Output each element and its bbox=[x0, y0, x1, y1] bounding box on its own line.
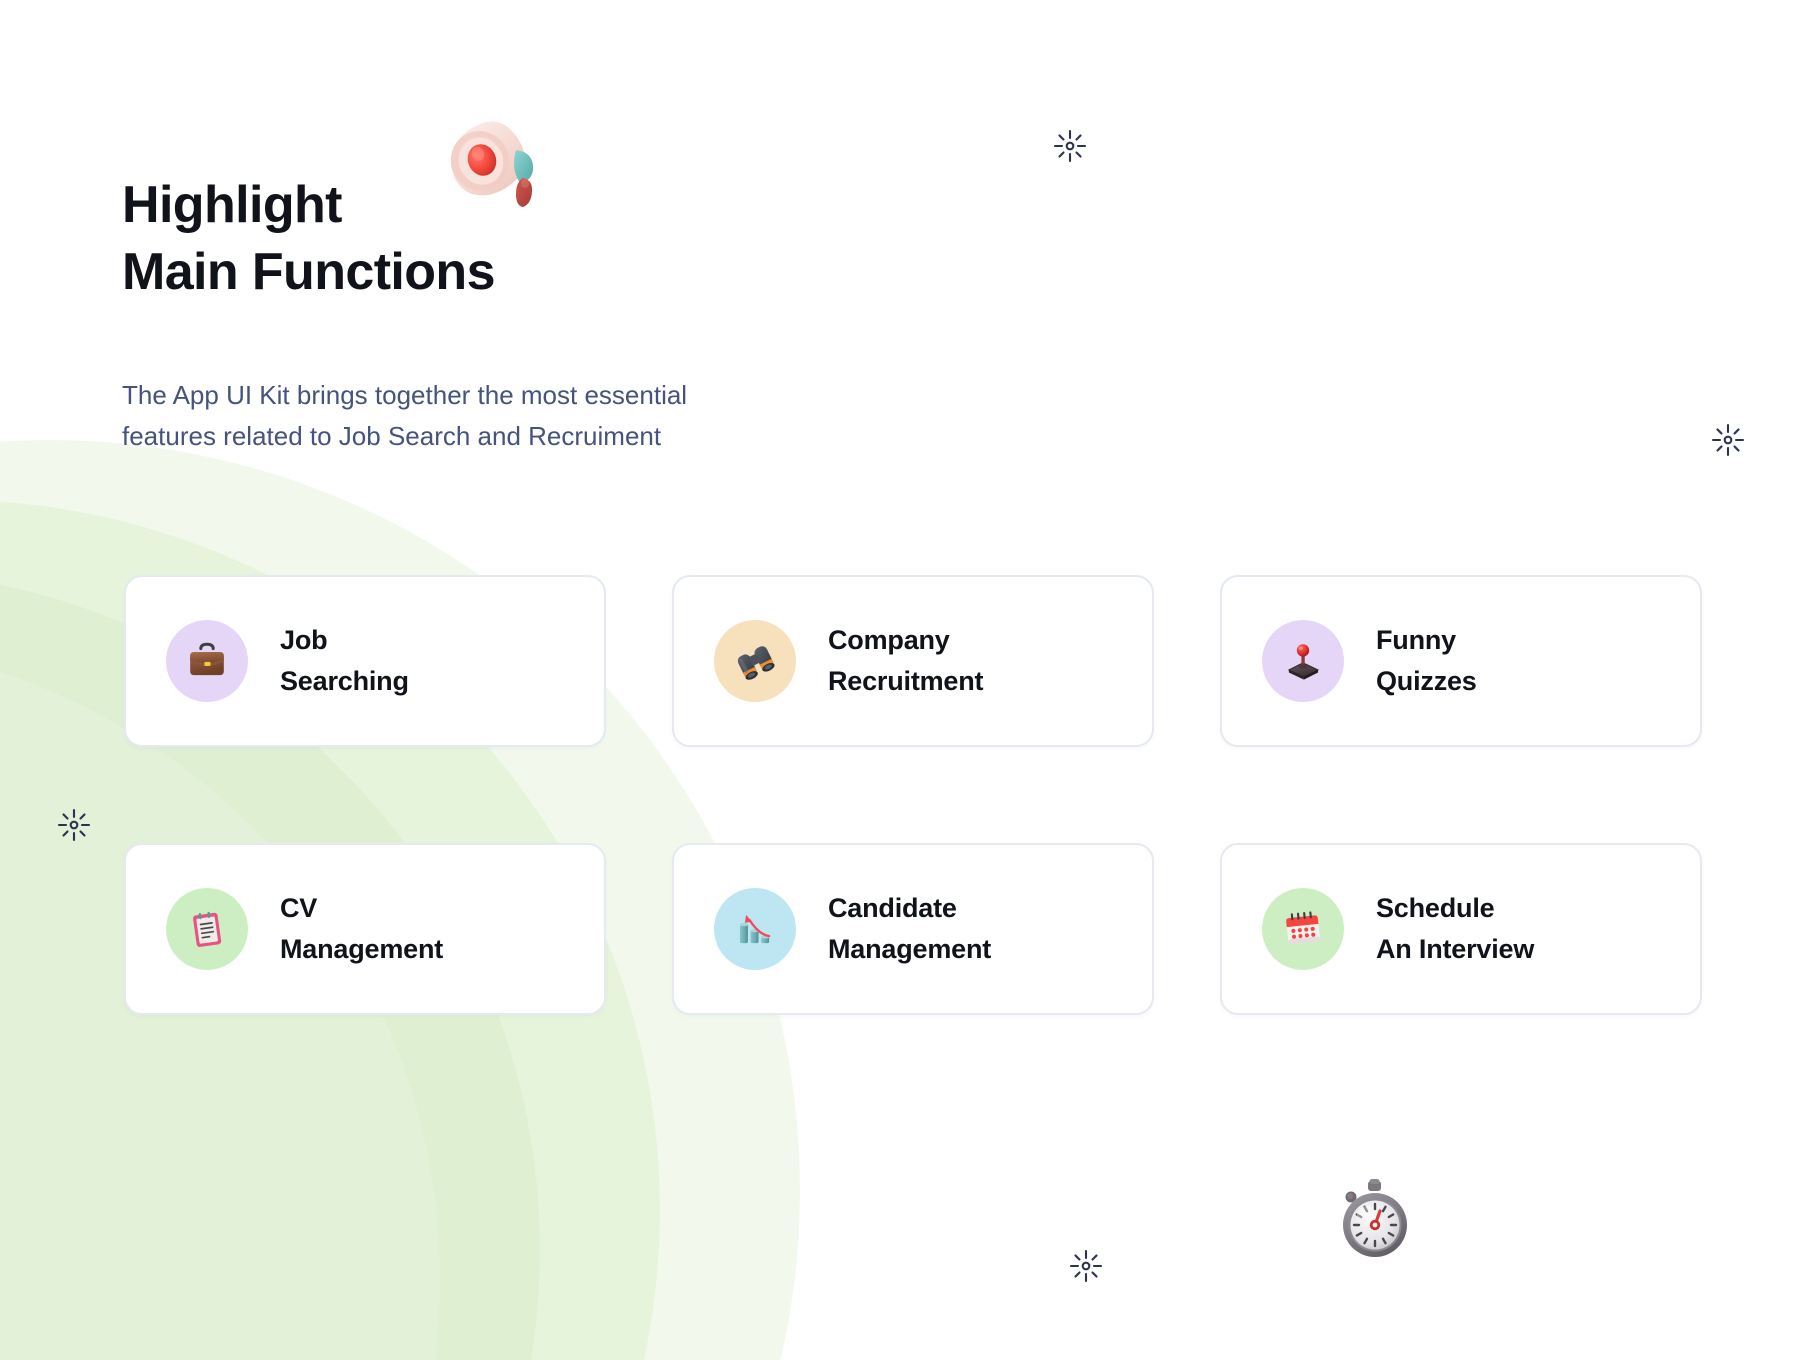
card-label: Company Recruitment bbox=[828, 620, 983, 702]
sparkle-top-center bbox=[1052, 128, 1088, 169]
heading-block: Highlight Main Functions bbox=[122, 172, 1022, 305]
page-subtitle: The App UI Kit brings together the most … bbox=[122, 375, 942, 457]
card-label: Candidate Management bbox=[828, 888, 991, 970]
clipboard-icon bbox=[166, 888, 248, 970]
megaphone-3d-icon bbox=[428, 108, 548, 228]
sparkle-right bbox=[1710, 422, 1746, 463]
card-company-recruitment[interactable]: Company Recruitment bbox=[672, 575, 1154, 747]
card-cv-management[interactable]: CV Management bbox=[124, 843, 606, 1015]
sparkle-left bbox=[56, 807, 92, 848]
card-label: Job Searching bbox=[280, 620, 409, 702]
page-root: Highlight Main Functions bbox=[0, 0, 1800, 1360]
card-label: Funny Quizzes bbox=[1376, 620, 1477, 702]
function-card-grid: Job Searching bbox=[124, 575, 1704, 1015]
binoculars-icon bbox=[714, 620, 796, 702]
card-funny-quizzes[interactable]: Funny Quizzes bbox=[1220, 575, 1702, 747]
card-label: CV Management bbox=[280, 888, 443, 970]
calendar-icon bbox=[1262, 888, 1344, 970]
card-candidate-management[interactable]: Candidate Management bbox=[672, 843, 1154, 1015]
page-title: Highlight Main Functions bbox=[122, 172, 1022, 305]
bar-chart-arrow-icon bbox=[714, 888, 796, 970]
stopwatch-3d-icon bbox=[1330, 1175, 1420, 1265]
briefcase-icon bbox=[166, 620, 248, 702]
card-schedule-an-interview[interactable]: Schedule An Interview bbox=[1220, 843, 1702, 1015]
sparkle-bottom-center bbox=[1068, 1248, 1104, 1289]
card-label: Schedule An Interview bbox=[1376, 888, 1534, 970]
card-job-searching[interactable]: Job Searching bbox=[124, 575, 606, 747]
joystick-icon bbox=[1262, 620, 1344, 702]
